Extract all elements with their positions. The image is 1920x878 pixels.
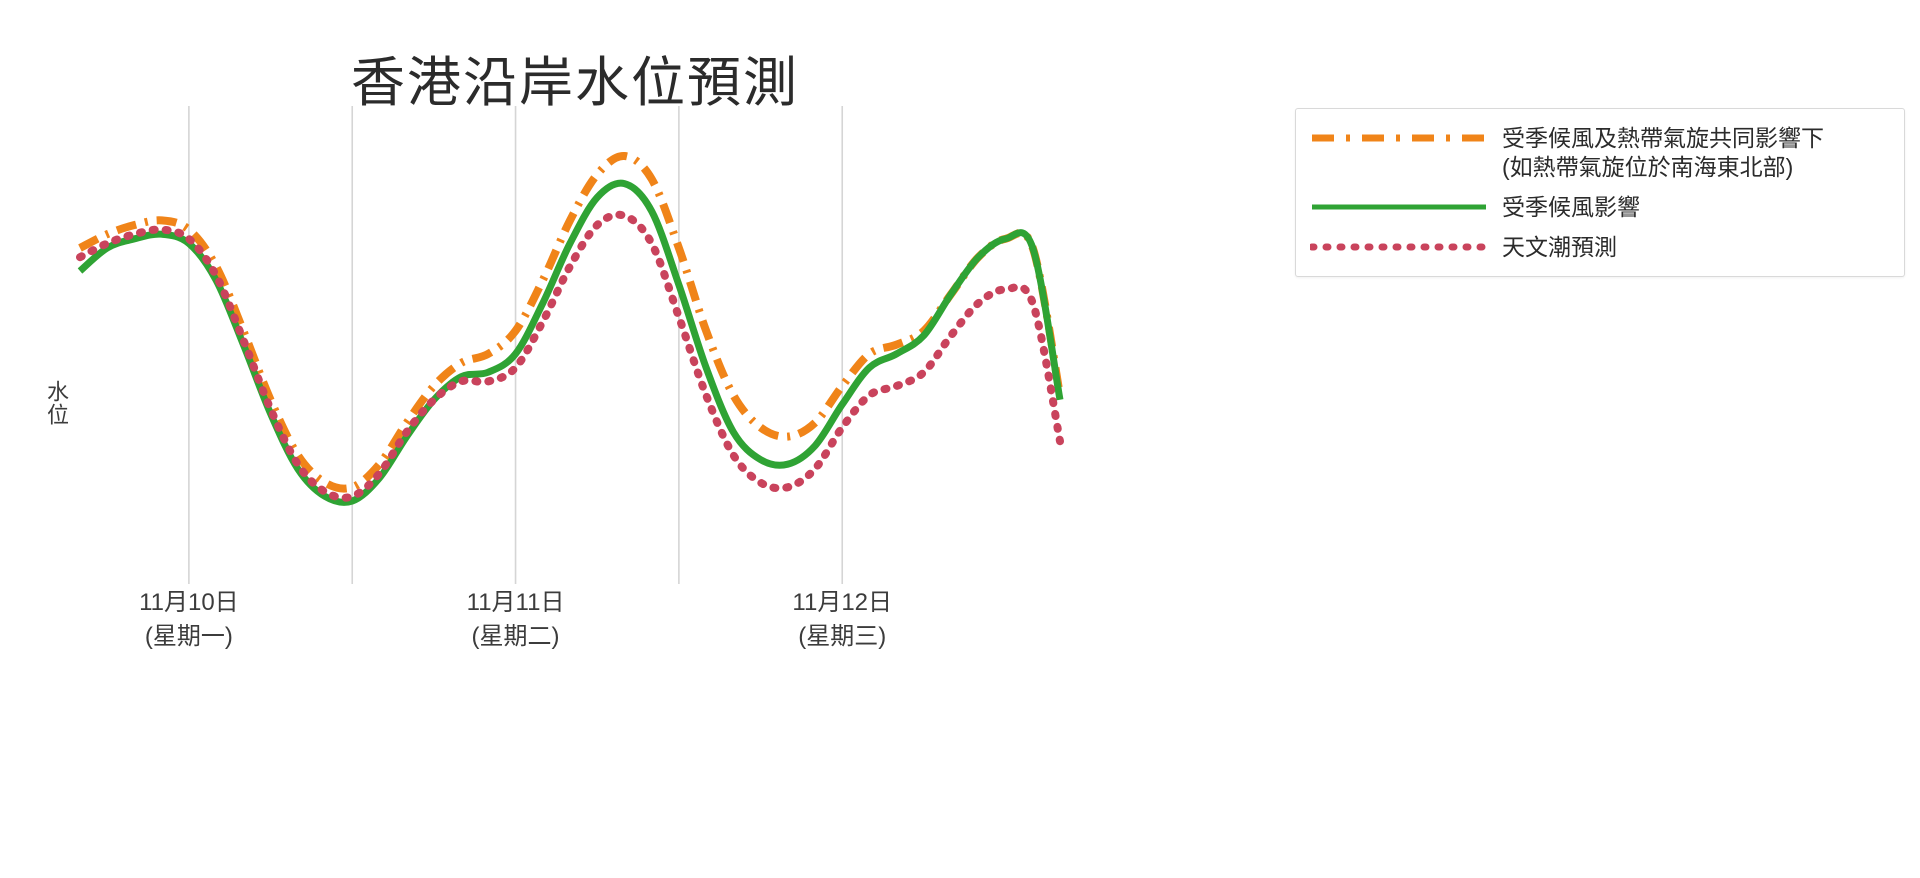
x-tick-weekday: (星期三) xyxy=(712,620,972,654)
x-tick-date: 11月11日 xyxy=(467,589,565,616)
x-tick-label-0: 11月10日(星期一) xyxy=(59,586,319,654)
water-level-forecast-chart: 香港沿岸水位預測 水位 11月10日(星期一)11月11日(星期二)11月12日… xyxy=(0,0,1920,878)
solid-line-icon xyxy=(1310,192,1488,222)
y-axis-label: 水位 xyxy=(12,380,72,426)
series-line-0 xyxy=(80,156,1060,489)
plot-svg xyxy=(80,110,1060,570)
series-line-1 xyxy=(80,183,1060,502)
legend-item-0[interactable]: 受季候風及熱帶氣旋共同影響下 (如熱帶氣旋位於南海東北部) xyxy=(1310,123,1888,182)
legend-item-label: 天文潮預測 xyxy=(1502,232,1617,262)
dotted-line-icon xyxy=(1310,232,1488,262)
legend-item-label: 受季候風影響 xyxy=(1502,192,1640,222)
legend: 受季候風及熱帶氣旋共同影響下 (如熱帶氣旋位於南海東北部)受季候風影響天文潮預測 xyxy=(1295,108,1905,277)
x-tick-date: 11月12日 xyxy=(792,589,892,616)
plot-area xyxy=(80,110,1060,570)
legend-item-label: 受季候風及熱帶氣旋共同影響下 (如熱帶氣旋位於南海東北部) xyxy=(1502,123,1824,182)
legend-item-1[interactable]: 受季候風影響 xyxy=(1310,192,1888,222)
dash-dot-line-icon xyxy=(1310,123,1488,153)
legend-item-2[interactable]: 天文潮預測 xyxy=(1310,232,1888,262)
x-tick-weekday: (星期一) xyxy=(59,620,319,654)
x-tick-label-1: 11月11日(星期二) xyxy=(386,586,646,654)
x-tick-label-2: 11月12日(星期三) xyxy=(712,586,972,654)
x-tick-weekday: (星期二) xyxy=(386,620,646,654)
gridlines xyxy=(189,106,842,584)
page-title: 香港沿岸水位預測 xyxy=(0,38,1150,117)
series-lines xyxy=(80,156,1060,502)
x-tick-date: 11月10日 xyxy=(139,589,239,616)
series-line-2 xyxy=(80,215,1060,498)
